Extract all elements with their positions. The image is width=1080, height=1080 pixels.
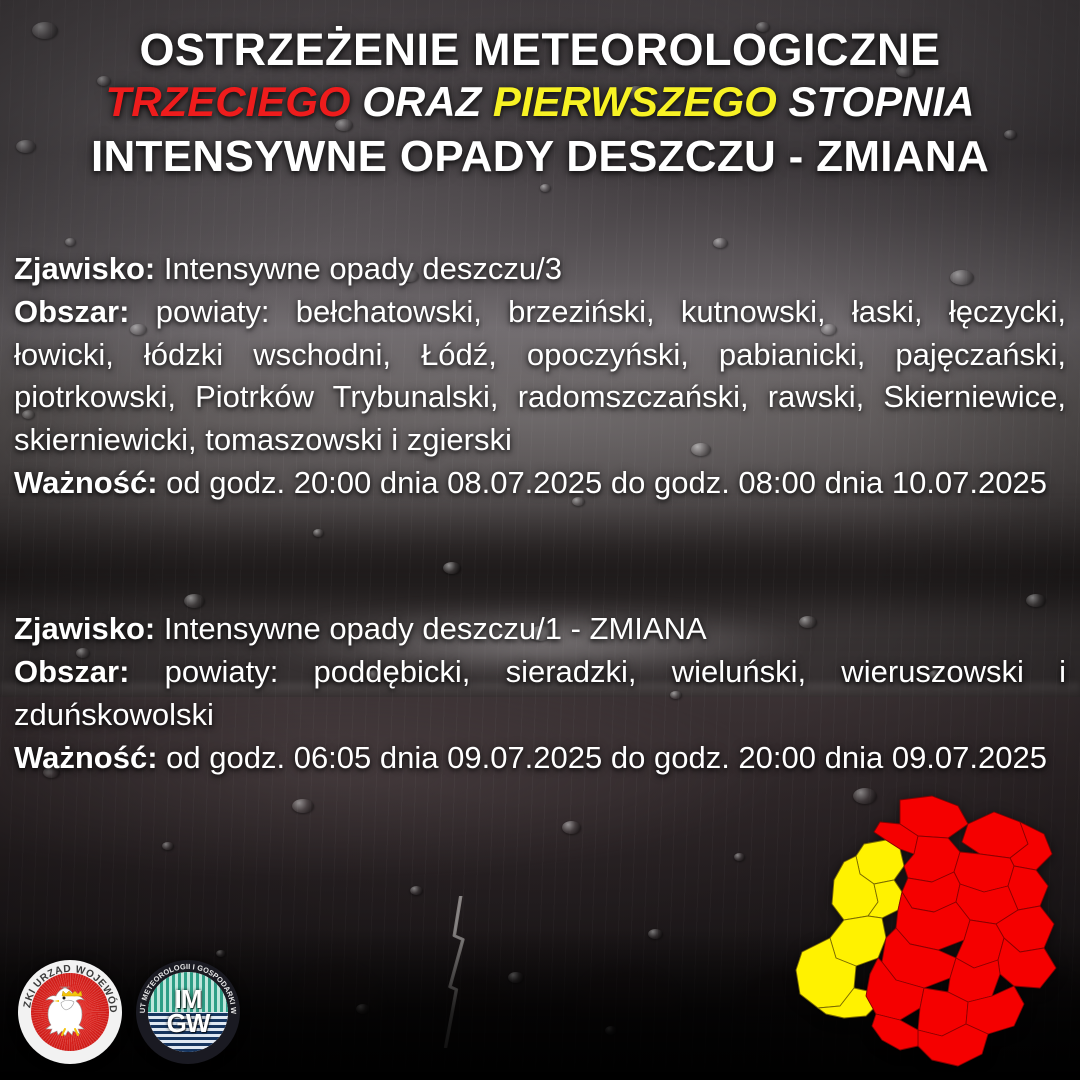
lodz-voivodeship-warning-map bbox=[782, 792, 1074, 1072]
imgw-disc bbox=[148, 972, 228, 1052]
area-row-2: Obszar: powiaty: poddębicki, sieradzki, … bbox=[14, 651, 1066, 736]
area-value-1: powiaty: bełchatowski, brzeziński, kutno… bbox=[14, 294, 1066, 456]
validity-row-2: Ważność: od godz. 06:05 dnia 09.07.2025 … bbox=[14, 737, 1066, 779]
phenomenon-row-1: Zjawisko: Intensywne opady deszczu/3 bbox=[14, 248, 1066, 290]
county-pajeczanski-south bbox=[872, 1014, 918, 1050]
lodzki-urzad-wojewodzki-logo: ŁÓDZKI URZĄD WOJEWÓDZKI W ŁODZI bbox=[18, 960, 122, 1064]
validity-label-2: Ważność: bbox=[14, 740, 158, 775]
area-value-2: powiaty: poddębicki, sieradzki, wieluńsk… bbox=[14, 654, 1066, 731]
county-lowicki bbox=[962, 812, 1028, 858]
phenomenon-label-1: Zjawisko: bbox=[14, 251, 155, 286]
validity-row-1: Ważność: od godz. 20:00 dnia 08.07.2025 … bbox=[14, 462, 1066, 504]
warning-block-1: Zjawisko: Intensywne opady deszczu/3 Obs… bbox=[14, 248, 1066, 506]
phenomenon-value-2: Intensywne opady deszczu/1 - ZMIANA bbox=[164, 611, 707, 646]
headline: OSTRZEŻENIE METEOROLOGICZNE TRZECIEGO OR… bbox=[0, 26, 1080, 184]
poster-content: OSTRZEŻENIE METEOROLOGICZNE TRZECIEGO OR… bbox=[0, 0, 1080, 1080]
phenomenon-value-1: Intensywne opady deszczu/3 bbox=[164, 251, 562, 286]
headline-line-2: TRZECIEGO ORAZ PIERWSZEGO STOPNIA bbox=[0, 74, 1080, 131]
area-label-2: Obszar: bbox=[14, 654, 129, 689]
imgw-disc-bottom-hatch bbox=[148, 1012, 228, 1052]
headline-line-1: OSTRZEŻENIE METEOROLOGICZNE bbox=[0, 26, 1080, 74]
validity-value-2: od godz. 06:05 dnia 09.07.2025 do godz. … bbox=[166, 740, 1047, 775]
validity-value-1: od godz. 20:00 dnia 08.07.2025 do godz. … bbox=[166, 465, 1047, 500]
phenomenon-row-2: Zjawisko: Intensywne opady deszczu/1 - Z… bbox=[14, 608, 1066, 650]
headline-degree-first: PIERWSZEGO bbox=[493, 78, 777, 125]
area-row-1: Obszar: powiaty: bełchatowski, brzezińsk… bbox=[14, 291, 1066, 461]
polish-eagle-icon bbox=[31, 973, 109, 1051]
imgw-logo: INSTYTUT METEOROLOGII I GOSPODARKI WODNE… bbox=[136, 960, 240, 1064]
phenomenon-label-2: Zjawisko: bbox=[14, 611, 155, 646]
headline-degree-word: STOPNIA bbox=[789, 78, 975, 125]
headline-line-3: INTENSYWNE OPADY DESZCZU - ZMIANA bbox=[0, 130, 1080, 184]
imgw-disc-top-hatch bbox=[148, 972, 228, 1012]
headline-degree-third: TRZECIEGO bbox=[106, 78, 351, 125]
logo-row: ŁÓDZKI URZĄD WOJEWÓDZKI W ŁODZI bbox=[18, 960, 240, 1064]
warning-block-2: Zjawisko: Intensywne opady deszczu/1 - Z… bbox=[14, 608, 1066, 781]
headline-conjunction: ORAZ bbox=[362, 78, 481, 125]
weather-warning-poster: OSTRZEŻENIE METEOROLOGICZNE TRZECIEGO OR… bbox=[0, 0, 1080, 1080]
eagle-emblem-background bbox=[31, 973, 109, 1051]
area-label-1: Obszar: bbox=[14, 294, 129, 329]
voivodeship-map-svg bbox=[782, 792, 1074, 1072]
map-red-area bbox=[866, 796, 1056, 1066]
validity-label-1: Ważność: bbox=[14, 465, 158, 500]
